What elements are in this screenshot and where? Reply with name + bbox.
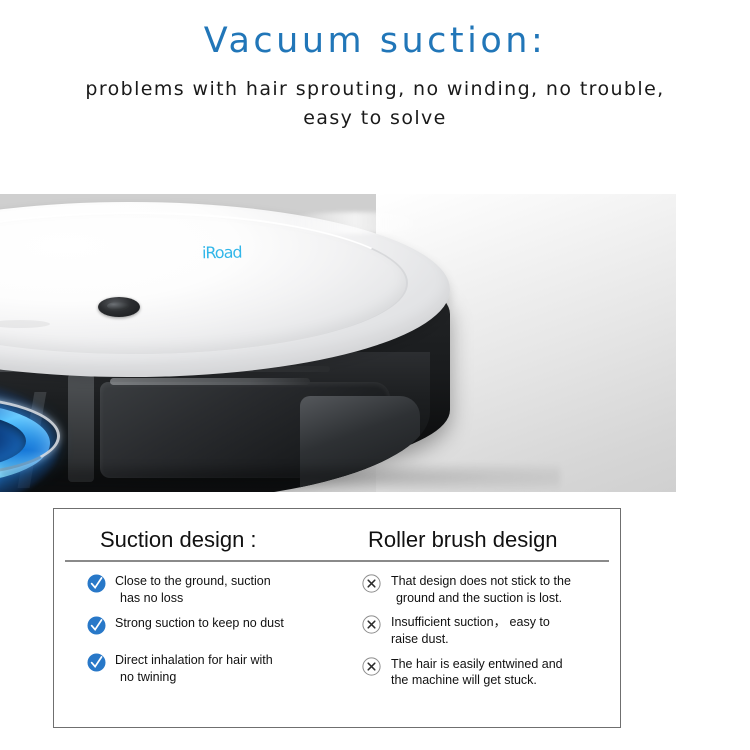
list-item-line2: ground and the suction is lost. xyxy=(391,590,571,607)
list-item-line1: The hair is easily entwined and xyxy=(391,657,563,671)
dustbin-lip xyxy=(110,378,310,385)
x-circle-icon xyxy=(362,657,381,676)
comparison-column-roller-brush: That design does not stick to the ground… xyxy=(358,573,620,697)
list-item-line2: the machine will get stuck. xyxy=(391,672,563,689)
product-image: iRoad xyxy=(0,194,676,492)
list-item-text: Insufficient suction， easy to raise dust… xyxy=(381,614,550,647)
check-circle-icon xyxy=(87,653,106,672)
list-item-line2: has no loss xyxy=(115,590,271,607)
x-circle-icon xyxy=(362,574,381,593)
check-circle-icon xyxy=(87,616,106,635)
list-item-line1: That design does not stick to the xyxy=(391,574,571,588)
list-item: Close to the ground, suction has no loss xyxy=(87,573,358,606)
comparison-column-suction: Close to the ground, suction has no loss… xyxy=(54,573,358,697)
robot-edge-highlight xyxy=(280,212,430,234)
robot-power-button xyxy=(98,297,140,317)
robot-vacuum-illustration: iRoad xyxy=(0,202,450,492)
list-item: That design does not stick to the ground… xyxy=(362,573,620,606)
list-item-line1: Close to the ground, suction xyxy=(115,574,271,588)
comparison-table: Suction design : Roller brush design Clo… xyxy=(53,508,621,728)
list-item-line1: Insufficient suction， easy to xyxy=(391,615,550,629)
comparison-body: Close to the ground, suction has no loss… xyxy=(54,562,620,697)
comparison-header-row: Suction design : Roller brush design xyxy=(54,509,620,556)
list-item: Insufficient suction， easy to raise dust… xyxy=(362,614,620,647)
list-item: The hair is easily entwined and the mach… xyxy=(362,656,620,689)
floor-shadow xyxy=(0,464,560,490)
check-circle-icon xyxy=(87,574,106,593)
list-item: Strong suction to keep no dust xyxy=(87,615,358,635)
column-header-roller-brush-design: Roller brush design xyxy=(322,527,558,556)
list-item-line2: raise dust. xyxy=(391,631,550,648)
list-item-line1: Direct inhalation for hair with xyxy=(115,653,273,667)
x-circle-icon xyxy=(362,615,381,634)
page-subtitle: problems with hair sprouting, no winding… xyxy=(75,61,675,134)
list-item-text: Direct inhalation for hair with no twini… xyxy=(106,652,273,685)
column-header-suction-design: Suction design : xyxy=(54,527,322,556)
list-item-line2: no twining xyxy=(115,669,273,686)
list-item-text: The hair is easily entwined and the mach… xyxy=(381,656,563,689)
list-item-text: That design does not stick to the ground… xyxy=(381,573,571,606)
list-item-text: Close to the ground, suction has no loss xyxy=(106,573,271,606)
brand-logo-icon: iRoad xyxy=(202,242,236,265)
list-item: Direct inhalation for hair with no twini… xyxy=(87,652,358,685)
page-title: Vacuum suction: xyxy=(0,0,750,61)
photo-backdrop: iRoad xyxy=(0,194,676,492)
list-item-line1: Strong suction to keep no dust xyxy=(115,616,284,630)
list-item-text: Strong suction to keep no dust xyxy=(106,615,284,632)
